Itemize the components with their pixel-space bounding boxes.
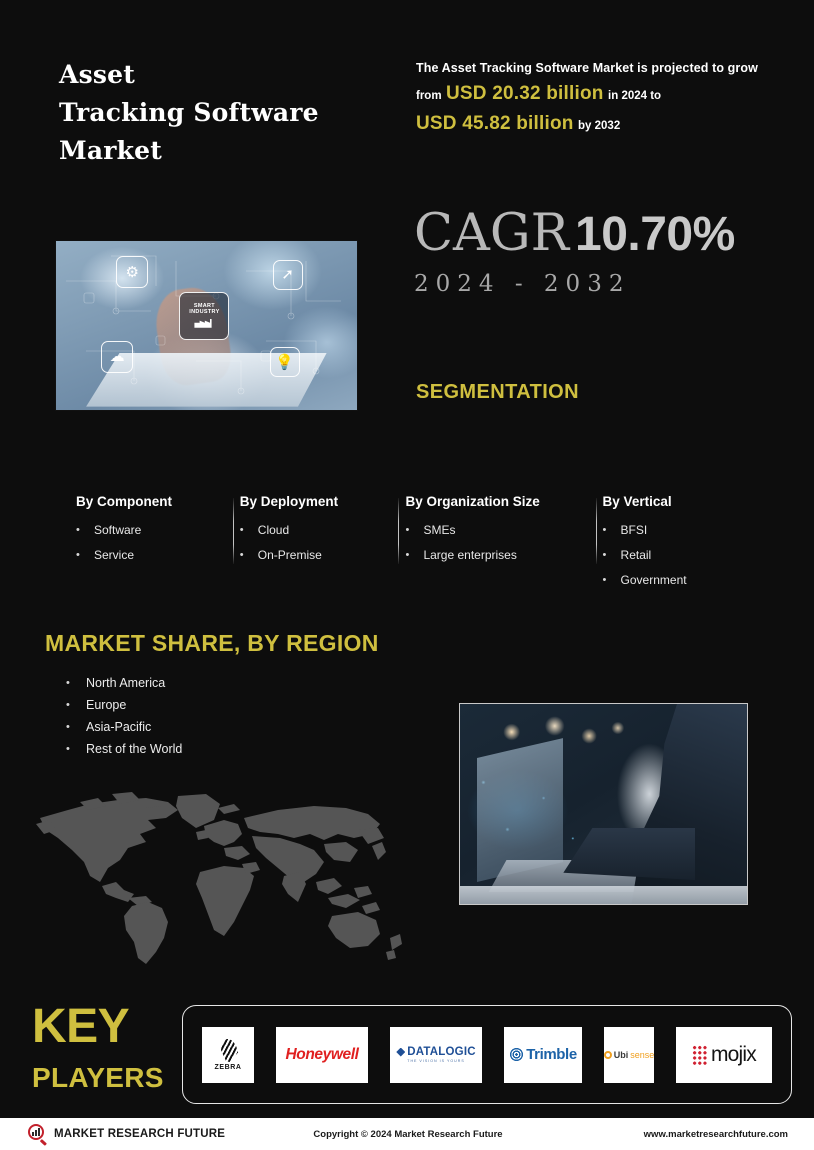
bullet-icon: • xyxy=(66,694,86,716)
market-value-2032: USD 45.82 billion xyxy=(416,113,574,134)
segmentation-column-title: By Organization Size xyxy=(405,494,588,509)
market-value-2024: USD 20.32 billion xyxy=(446,83,604,104)
cagr-line: CAGR10.70% xyxy=(414,208,794,259)
projection-line-1: The Asset Tracking Software Market is pr… xyxy=(416,60,786,77)
bullet-icon: • xyxy=(603,518,621,543)
segmentation-item-label: BFSI xyxy=(621,518,648,543)
segmentation-item-label: Government xyxy=(621,568,687,593)
gears-icon: ⚙ xyxy=(116,256,148,288)
logo-mojix-label: mojix xyxy=(711,1044,756,1065)
logo-mojix-row: mojix xyxy=(692,1044,756,1065)
factory-icon xyxy=(194,319,214,328)
bullet-icon: • xyxy=(66,716,86,738)
segmentation-item-label: SMEs xyxy=(423,518,455,543)
segmentation-column-vertical: By Vertical • BFSI • Retail • Government xyxy=(603,494,746,593)
cagr-label: CAGR xyxy=(414,204,569,263)
segmentation-item-label: Large enterprises xyxy=(423,543,516,568)
bullet-icon: • xyxy=(240,543,258,568)
key-players-logo-panel: ZEBRA Honeywell DATALOGIC THE VISION IS … xyxy=(182,1005,792,1104)
key-players-heading-line-1: KEY xyxy=(32,1003,129,1051)
bullet-icon: • xyxy=(66,738,86,760)
page-title-line-3: Market xyxy=(59,132,389,170)
world-map xyxy=(28,790,418,970)
magnifier-chart-icon xyxy=(28,1124,48,1144)
logo-datalogic-label: DATALOGIC xyxy=(407,1046,475,1058)
segmentation-item: • BFSI xyxy=(603,518,732,543)
smart-industry-label-2: INDUSTRY xyxy=(189,310,219,316)
laptop-user-image xyxy=(459,703,748,905)
logo-honeywell-label: Honeywell xyxy=(285,1046,358,1064)
segmentation-item-label: On-Premise xyxy=(258,543,322,568)
segmentation-item: • Cloud xyxy=(240,518,392,543)
market-projection-text: The Asset Tracking Software Market is pr… xyxy=(416,60,786,137)
to-label: by 2032 xyxy=(578,120,620,132)
segmentation-item-label: Software xyxy=(94,518,141,543)
logo-honeywell: Honeywell xyxy=(276,1027,368,1083)
bar-chart-icon xyxy=(32,1128,40,1136)
zebra-head-icon xyxy=(217,1039,239,1063)
smart-industry-tile: SMART INDUSTRY xyxy=(179,292,229,340)
list-item: • Rest of the World xyxy=(66,738,182,760)
bullet-icon: • xyxy=(240,518,258,543)
segmentation-item: • Large enterprises xyxy=(405,543,588,568)
ubisense-dot-icon xyxy=(604,1051,612,1059)
region-item-label: Europe xyxy=(86,694,126,716)
datalogic-diamond-icon xyxy=(396,1048,405,1057)
logo-ubisense-label-a: Ubi xyxy=(614,1050,629,1060)
from-label: from xyxy=(416,90,442,102)
mojix-dot-matrix-icon xyxy=(692,1045,708,1065)
projection-line-2: from USD 20.32 billion in 2024 to xyxy=(416,83,786,107)
page-title: Asset Tracking Software Market xyxy=(59,56,389,170)
footer-bar: MARKET RESEARCH FUTURE Copyright © 2024 … xyxy=(0,1118,814,1150)
region-heading: MARKET SHARE, BY REGION xyxy=(45,630,379,657)
projection-line-3: USD 45.82 billion by 2032 xyxy=(416,113,786,137)
logo-zebra: ZEBRA xyxy=(202,1027,254,1083)
mid-label: in 2024 to xyxy=(608,90,661,102)
logo-ubisense: Ubisense xyxy=(604,1027,654,1083)
segmentation-column-component: By Component • Software • Service xyxy=(76,494,240,568)
region-item-label: Asia-Pacific xyxy=(86,716,151,738)
column-divider xyxy=(398,498,399,564)
infographic-poster: Asset Tracking Software Market ⚙ ➚ ☁ xyxy=(0,0,814,1150)
logo-ubisense-label-b: sense xyxy=(630,1050,654,1060)
cagr-block: CAGR10.70% 2024 - 2032 xyxy=(414,208,794,297)
key-players-heading-line-2: PLAYERS xyxy=(32,1064,164,1092)
logo-trimble-label: Trimble xyxy=(526,1046,577,1063)
footer-copyright: Copyright © 2024 Market Research Future xyxy=(278,1129,538,1140)
segmentation-item-label: Cloud xyxy=(258,518,289,543)
segmentation-column-organization-size: By Organization Size • SMEs • Large ente… xyxy=(405,494,602,568)
region-item-label: North America xyxy=(86,672,165,694)
bullet-icon: • xyxy=(66,672,86,694)
list-item: • Asia-Pacific xyxy=(66,716,182,738)
segmentation-item-label: Service xyxy=(94,543,134,568)
cloud-icon: ☁ xyxy=(101,341,133,373)
logo-datalogic-tagline: THE VISION IS YOURS xyxy=(407,1059,464,1063)
logo-datalogic: DATALOGIC THE VISION IS YOURS xyxy=(390,1027,482,1083)
footer-brand-label: MARKET RESEARCH FUTURE xyxy=(54,1128,225,1140)
hero-image-smart-industry: ⚙ ➚ ☁ 💡 SMART INDUSTRY xyxy=(55,240,358,411)
logo-zebra-label: ZEBRA xyxy=(214,1064,241,1071)
logo-mojix: mojix xyxy=(676,1027,772,1083)
bullet-icon: • xyxy=(405,543,423,568)
footer-brand-logo[interactable]: MARKET RESEARCH FUTURE xyxy=(28,1124,278,1144)
bullet-icon: • xyxy=(76,518,94,543)
column-divider xyxy=(596,498,597,564)
bullet-icon: • xyxy=(603,568,621,593)
column-divider xyxy=(233,498,234,564)
segmentation-item: • Service xyxy=(76,543,226,568)
trimble-globe-icon xyxy=(509,1047,524,1062)
bullet-icon: • xyxy=(76,543,94,568)
desk-surface xyxy=(460,886,747,904)
region-list: • North America • Europe • Asia-Pacific … xyxy=(66,672,182,760)
logo-trimble: Trimble xyxy=(504,1027,582,1083)
segmentation-item: • SMEs xyxy=(405,518,588,543)
region-item-label: Rest of the World xyxy=(86,738,182,760)
robot-arm-icon: ➚ xyxy=(273,260,303,290)
cagr-value: 10.70% xyxy=(575,208,735,261)
magnifier-handle xyxy=(40,1139,47,1146)
page-title-line-2: Tracking Software xyxy=(59,94,389,132)
segmentation-item-label: Retail xyxy=(621,543,652,568)
segmentation-item: • Software xyxy=(76,518,226,543)
logo-ubisense-row: Ubisense xyxy=(604,1050,655,1060)
bullet-icon: • xyxy=(405,518,423,543)
bullet-icon: • xyxy=(603,543,621,568)
logo-datalogic-row: DATALOGIC xyxy=(396,1046,475,1058)
segmentation-column-deployment: By Deployment • Cloud • On-Premise xyxy=(240,494,406,568)
segmentation-heading: SEGMENTATION xyxy=(416,381,579,404)
segmentation-item: • On-Premise xyxy=(240,543,392,568)
segmentation-column-title: By Vertical xyxy=(603,494,732,509)
segmentation-columns: By Component • Software • Service By Dep… xyxy=(76,494,746,593)
segmentation-column-title: By Deployment xyxy=(240,494,392,509)
segmentation-column-title: By Component xyxy=(76,494,226,509)
lightbulb-icon: 💡 xyxy=(270,347,300,377)
segmentation-item: • Government xyxy=(603,568,732,593)
list-item: • Europe xyxy=(66,694,182,716)
list-item: • North America xyxy=(66,672,182,694)
page-title-line-1: Asset xyxy=(59,56,389,94)
footer-website-url[interactable]: www.marketresearchfuture.com xyxy=(538,1129,788,1140)
segmentation-item: • Retail xyxy=(603,543,732,568)
cagr-period: 2024 - 2032 xyxy=(414,271,794,297)
